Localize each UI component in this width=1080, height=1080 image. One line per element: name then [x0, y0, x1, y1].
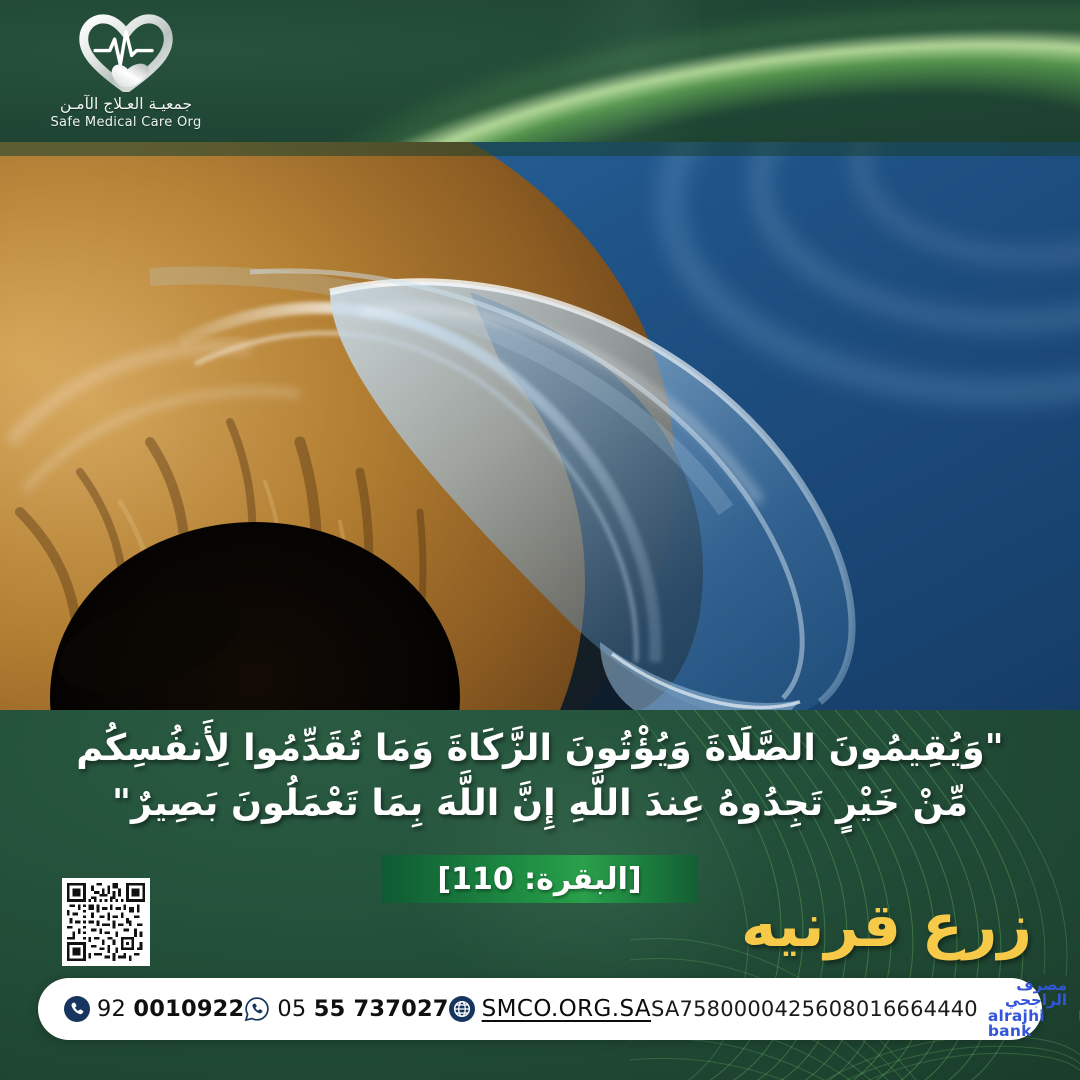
website-contact[interactable]: SMCO.ORG.SA — [449, 996, 651, 1022]
heart-ecg-hand-logo-icon — [76, 14, 176, 92]
brand-name-english: Safe Medical Care Org — [51, 115, 202, 130]
hero-eye-image — [0, 142, 1080, 710]
whatsapp-prefix: 05 — [277, 996, 306, 1022]
eye-macro-illustration — [0, 142, 1080, 710]
verse-reference-text: [البقرة: 110] — [437, 862, 641, 897]
website-url[interactable]: SMCO.ORG.SA — [482, 996, 651, 1022]
qr-code[interactable] — [62, 878, 150, 966]
verse-line-2: مِّنْ خَيْرٍ تَجِدُوهُ عِندَ اللَّهِ إِن… — [50, 775, 1030, 830]
whatsapp-icon — [244, 996, 270, 1022]
brand-name-arabic: جمعيـة العـلاج الآمـن — [60, 95, 192, 113]
brand-logo[interactable]: جمعيـة العـلاج الآمـن Safe Medical Care … — [36, 14, 216, 130]
whatsapp-main: 55 737027 — [314, 996, 449, 1022]
verse-line-1: "وَيُقِيمُونَ الصَّلَاةَ وَيُؤْتُونَ الز… — [50, 720, 1030, 775]
iban-number: SA7580000425608016664440 — [651, 997, 978, 1021]
phone-number: 92 0010922 — [97, 996, 244, 1022]
bank-name-english: alrajhi bank — [988, 1009, 1067, 1041]
bank-logo: مصرف الراجحي alrajhi bank — [988, 978, 1080, 1040]
phone-prefix: 92 — [97, 996, 126, 1022]
whatsapp-number: 05 55 737027 — [277, 996, 448, 1022]
bank-name-arabic: مصرف الراجحي — [988, 978, 1067, 1009]
bank-wordmark: مصرف الراجحي alrajhi bank — [988, 978, 1067, 1040]
phone-main: 0010922 — [133, 996, 244, 1022]
campaign-title: زرع قرنيه — [741, 896, 1032, 956]
contact-bar: 92 0010922 05 55 737027 SMCO.ORG.SA SA75… — [38, 978, 1042, 1040]
quran-verse: "وَيُقِيمُونَ الصَّلَاةَ وَيُؤْتُونَ الز… — [50, 720, 1030, 831]
qr-code-icon — [67, 883, 145, 961]
header-bar: جمعيـة العـلاج الآمـن Safe Medical Care … — [0, 0, 1080, 142]
header-sheen — [560, 0, 700, 142]
whatsapp-contact[interactable]: 05 55 737027 — [244, 996, 448, 1022]
verse-reference-badge: [البقرة: 110] — [382, 855, 697, 903]
phone-icon — [64, 996, 90, 1022]
globe-icon — [449, 996, 475, 1022]
poster-canvas: جمعيـة العـلاج الآمـن Safe Medical Care … — [0, 0, 1080, 1080]
phone-contact[interactable]: 92 0010922 — [64, 996, 244, 1022]
